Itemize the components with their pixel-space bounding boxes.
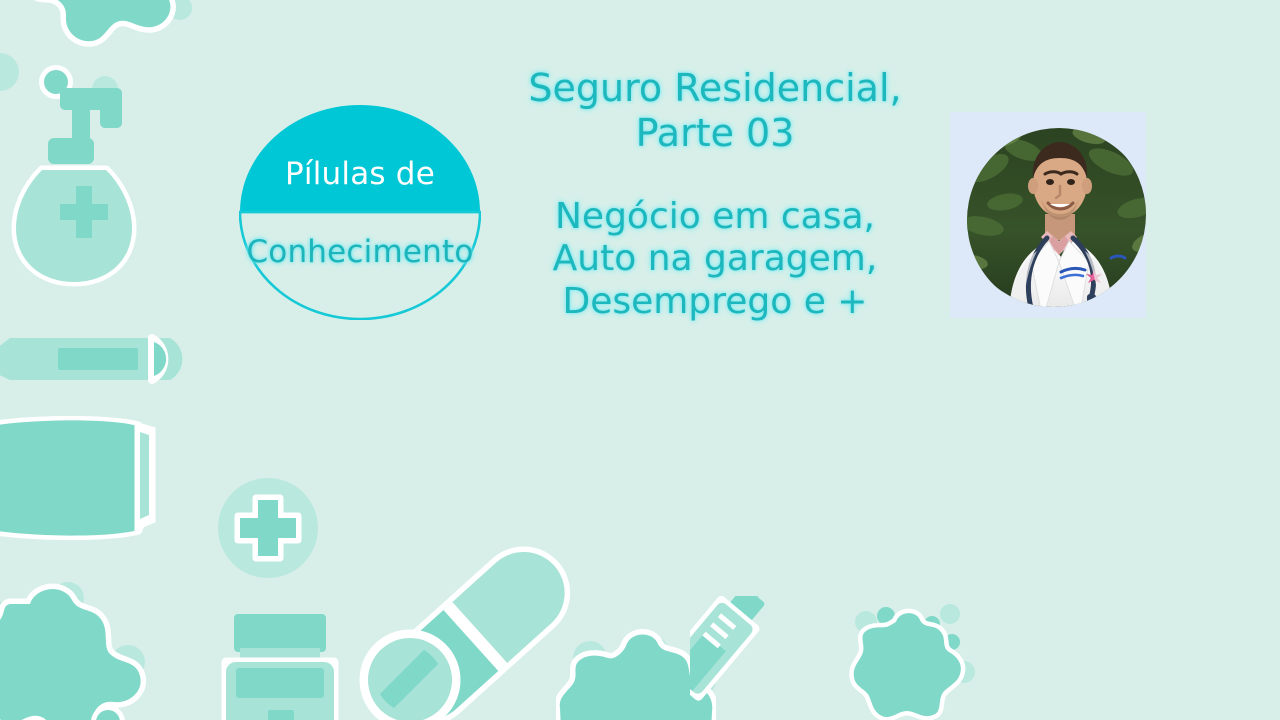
virus-bottom-right-icon	[838, 596, 978, 720]
logo-circle-shape	[239, 104, 481, 320]
portrait-card	[950, 112, 1146, 318]
avatar	[961, 122, 1146, 307]
subtitle-line-3: Desemprego e +	[470, 281, 960, 323]
thermometer-icon	[0, 316, 220, 398]
face-mask-icon	[0, 416, 190, 551]
soap-dispenser-icon	[8, 86, 178, 296]
slide-canvas: Pílulas de Conhecimento Seguro Residenci…	[0, 0, 1280, 720]
cross-badge-icon	[216, 476, 324, 584]
subtitle-line-2: Auto na garagem,	[470, 238, 960, 280]
round-tablet-icon	[358, 628, 462, 720]
title-block: Seguro Residencial, Parte 03 Negócio em …	[470, 66, 960, 323]
pill-bottle-icon	[216, 612, 356, 720]
subtitle-line-1: Negócio em casa,	[470, 196, 960, 238]
logo-bottom-text: Conhecimento	[239, 234, 481, 270]
virus-bottom-left-icon	[0, 570, 180, 720]
logo-top-text: Pílulas de	[239, 156, 481, 192]
title-spacer	[470, 156, 960, 196]
title-line-2: Parte 03	[470, 111, 960, 156]
brand-logo[interactable]: Pílulas de Conhecimento	[239, 104, 481, 320]
portrait-illustration	[961, 122, 1146, 307]
title-line-1: Seguro Residencial,	[470, 66, 960, 111]
